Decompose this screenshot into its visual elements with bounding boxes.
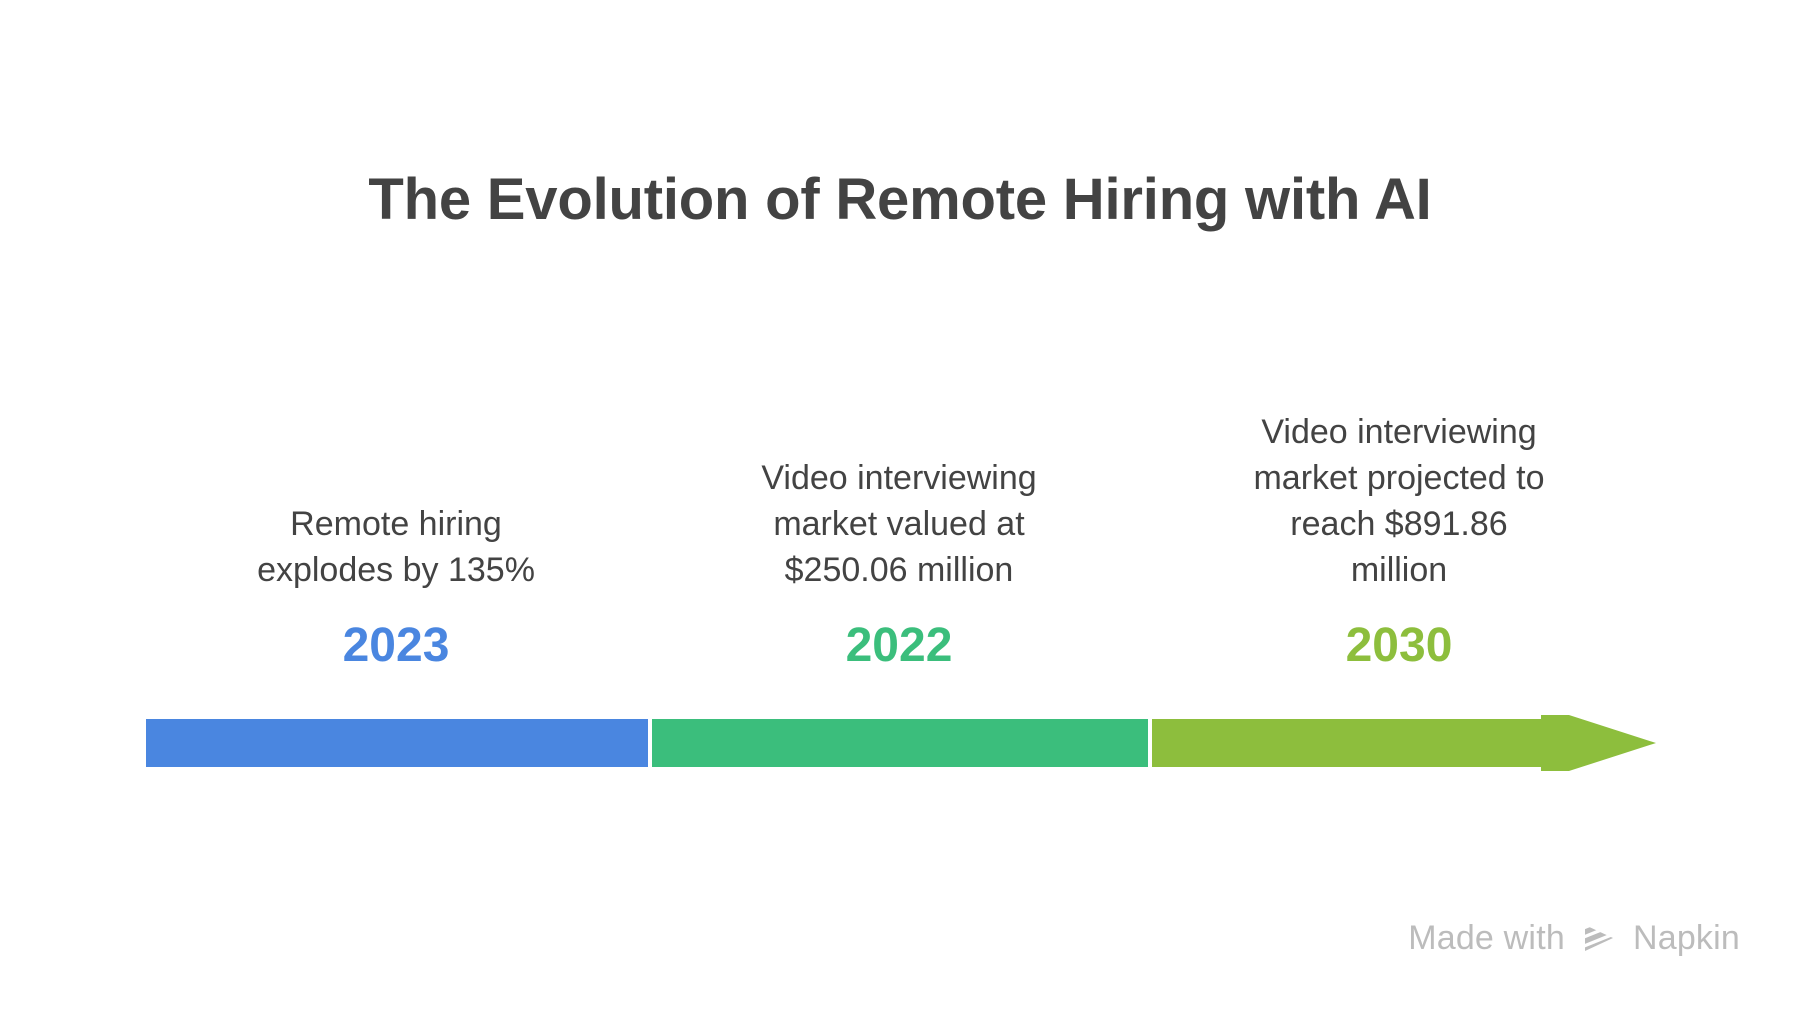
- timeline-description-1: Remote hiring explodes by 135%: [196, 502, 596, 594]
- timeline-columns: Remote hiring explodes by 135% 2023 Vide…: [0, 310, 1800, 670]
- napkin-striped-triangle-icon: [1579, 918, 1619, 958]
- timeline-arrow-svg: [146, 715, 1656, 771]
- timeline-year-3: 2030: [1199, 622, 1599, 670]
- timeline-segment-3-arrow: [1152, 715, 1656, 771]
- timeline-column-3: Video interviewing market projected to r…: [1199, 310, 1599, 670]
- timeline-year-2: 2022: [699, 622, 1099, 670]
- timeline-year-1: 2023: [196, 622, 596, 670]
- timeline-description-2: Video interviewing market valued at $250…: [699, 456, 1099, 594]
- timeline-column-1: Remote hiring explodes by 135% 2023: [196, 310, 596, 670]
- timeline-segment-1: [146, 719, 648, 767]
- footer-brand-label: Napkin: [1633, 919, 1740, 958]
- infographic-canvas: The Evolution of Remote Hiring with AI R…: [0, 0, 1800, 1013]
- timeline-description-3: Video interviewing market projected to r…: [1199, 410, 1599, 594]
- made-with-napkin-footer: Made with Napkin: [1408, 918, 1740, 958]
- timeline-arrow-bar: [146, 715, 1656, 771]
- page-title: The Evolution of Remote Hiring with AI: [0, 168, 1800, 232]
- timeline-segment-2: [652, 719, 1148, 767]
- footer-made-with-label: Made with: [1408, 919, 1565, 958]
- timeline-column-2: Video interviewing market valued at $250…: [699, 310, 1099, 670]
